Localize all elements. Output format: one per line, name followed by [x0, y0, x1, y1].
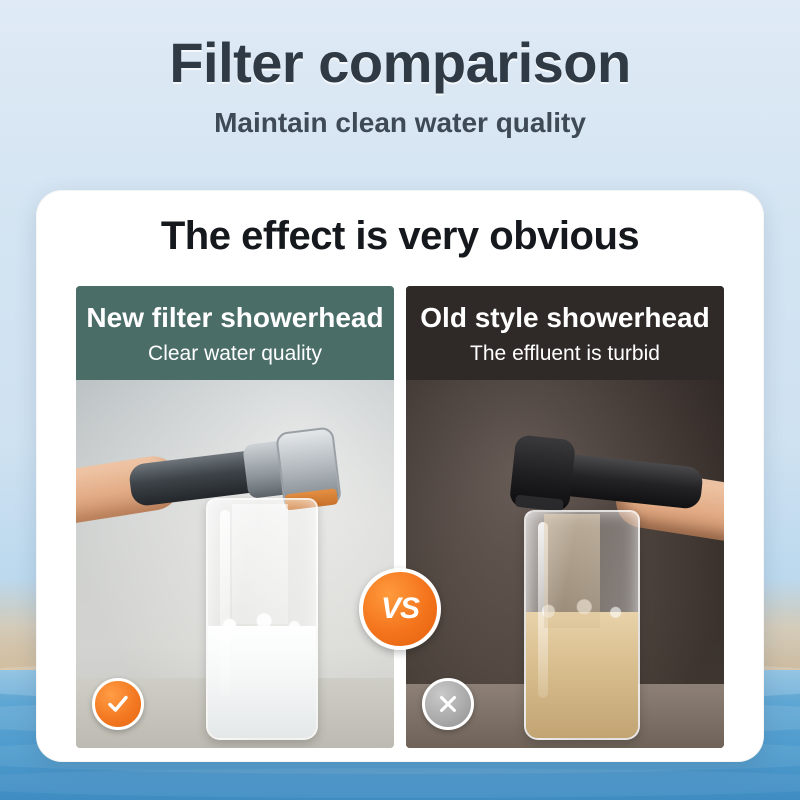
panel-caption-new: New filter showerhead Clear water qualit…: [76, 286, 394, 380]
caption-title: Old style showerhead: [414, 302, 716, 333]
panel-old-style[interactable]: Old style showerhead The effluent is tur…: [406, 286, 724, 748]
status-badge-check: [92, 678, 144, 730]
caption-subtitle: Clear water quality: [84, 333, 386, 366]
bottle-highlight: [220, 510, 230, 696]
check-icon: [106, 692, 130, 716]
card-title: The effect is very obvious: [36, 190, 764, 259]
poster-root: Filter comparison Maintain clean water q…: [0, 0, 800, 800]
vs-badge: VS: [359, 568, 441, 650]
vs-label: VS: [381, 592, 419, 626]
header-zone: Filter comparison Maintain clean water q…: [0, 0, 800, 139]
wave-line: [0, 768, 800, 798]
panel-new-filter[interactable]: New filter showerhead Clear water qualit…: [76, 286, 394, 748]
comparison-card: The effect is very obvious: [36, 190, 764, 762]
status-badge-cross: [422, 678, 474, 730]
comparison-panels: New filter showerhead Clear water qualit…: [76, 286, 724, 748]
water-stream: [544, 514, 600, 628]
close-icon: [437, 693, 459, 715]
panel-caption-old: Old style showerhead The effluent is tur…: [406, 286, 724, 380]
water-stream: [232, 504, 288, 624]
page-title: Filter comparison: [0, 0, 800, 93]
page-subtitle: Maintain clean water quality: [0, 93, 800, 139]
caption-title: New filter showerhead: [84, 302, 386, 333]
caption-subtitle: The effluent is turbid: [414, 333, 716, 366]
